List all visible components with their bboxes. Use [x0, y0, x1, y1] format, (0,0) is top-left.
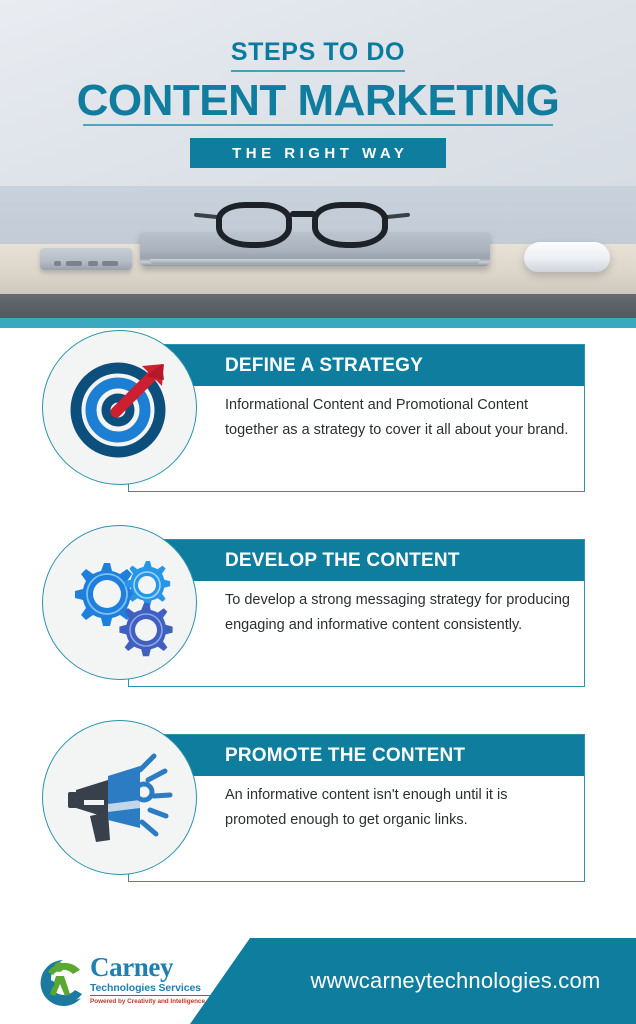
step-card-2: DEVELOP THE CONTENT To develop a strong …: [0, 525, 636, 720]
step-card-3-body: An informative content isn't enough unti…: [225, 783, 570, 833]
carney-logo-mark-icon: [34, 954, 92, 1008]
target-arrow-icon: [42, 330, 197, 485]
step-card-1: DEFINE A STRATEGY Informational Content …: [0, 330, 636, 525]
hero-photo: [0, 186, 636, 318]
eyebrow-title: STEPS TO DO: [0, 38, 636, 67]
footer-bar: Carney Technologies Services Powered by …: [0, 938, 636, 1024]
website-url[interactable]: wwwcarneytechnologies.com: [255, 938, 636, 1024]
photo-mouse: [524, 242, 610, 272]
step-card-2-box: DEVELOP THE CONTENT To develop a strong …: [128, 539, 585, 687]
step-card-2-header: DEVELOP THE CONTENT: [129, 540, 584, 581]
header-section: STEPS TO DO CONTENT MARKETING THE RIGHT …: [0, 0, 636, 186]
logo-company-name: Carney: [90, 954, 216, 981]
step-card-1-box: DEFINE A STRATEGY Informational Content …: [128, 344, 585, 492]
infographic-page: STEPS TO DO CONTENT MARKETING THE RIGHT …: [0, 0, 636, 1024]
step-card-1-body: Informational Content and Promotional Co…: [225, 393, 570, 443]
carney-logo-text: Carney Technologies Services Powered by …: [90, 954, 216, 1005]
photo-laptop-lip: [150, 259, 480, 264]
logo-subtitle: Technologies Services: [90, 982, 216, 996]
teal-divider-strip: [0, 318, 636, 328]
step-card-3-title: PROMOTE THE CONTENT: [225, 745, 465, 767]
step-card-1-title: DEFINE A STRATEGY: [225, 355, 423, 377]
footer-logo-panel: Carney Technologies Services Powered by …: [0, 938, 250, 1024]
step-card-3: PROMOTE THE CONTENT An informative conte…: [0, 720, 636, 915]
logo-tagline: Powered by Creativity and Intelligence: [90, 998, 216, 1005]
photo-eyeglasses: [216, 202, 388, 250]
gears-icon: [42, 525, 197, 680]
headline-underline: [83, 124, 553, 126]
phone-port-detail: [54, 261, 118, 266]
megaphone-icon: [42, 720, 197, 875]
photo-smartphone: [40, 248, 132, 270]
page-title: CONTENT MARKETING: [0, 78, 636, 124]
glasses-lens-left: [216, 202, 292, 248]
tagline-badge: THE RIGHT WAY: [190, 138, 446, 168]
carney-logo: Carney Technologies Services Powered by …: [34, 954, 214, 1010]
step-card-3-box: PROMOTE THE CONTENT An informative conte…: [128, 734, 585, 882]
step-card-2-title: DEVELOP THE CONTENT: [225, 550, 460, 572]
step-card-2-body: To develop a strong messaging strategy f…: [225, 588, 570, 638]
steps-list: DEFINE A STRATEGY Informational Content …: [0, 330, 636, 915]
glasses-lens-right: [312, 202, 388, 248]
eyebrow-underline: [231, 70, 405, 72]
step-card-1-header: DEFINE A STRATEGY: [129, 345, 584, 386]
photo-desk-edge: [0, 294, 636, 318]
step-card-3-header: PROMOTE THE CONTENT: [129, 735, 584, 776]
